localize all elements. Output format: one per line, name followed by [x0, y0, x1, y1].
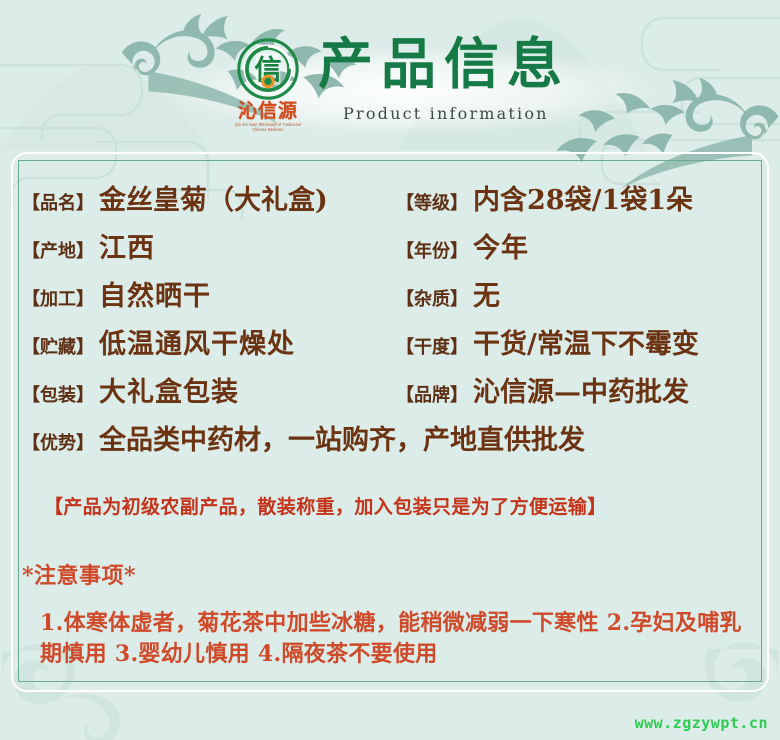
spec-value: 江西 — [99, 226, 155, 265]
spec-label: 【年份】 — [396, 237, 468, 263]
logo-brand-cn: 沁信源 — [228, 102, 308, 121]
spec-label: 【干度】 — [396, 333, 468, 359]
table-row: 【贮藏】 低温通风干燥处 【干度】 干货/常温下不霉变 — [22, 322, 762, 370]
table-row: 【品名】 金丝皇菊（大礼盒) 【等级】 内含28袋/1袋1朵 — [22, 178, 762, 226]
spec-table: 【品名】 金丝皇菊（大礼盒) 【等级】 内含28袋/1袋1朵 【产地】 江西 【… — [22, 178, 762, 474]
spec-cell-grade: 【等级】 内含28袋/1袋1朵 — [396, 178, 693, 217]
caution-body: 1.体寒体虚者，菊花茶中加些冰糖，能稍微减弱一下寒性 2.孕妇及哺乳期慎用 3.… — [40, 608, 746, 670]
spec-value: 自然晒干 — [99, 274, 211, 313]
spec-value: 沁信源—中药批发 — [473, 370, 689, 409]
spec-cell-processing: 【加工】 自然晒干 — [22, 274, 396, 313]
page-subtitle: Product information — [343, 104, 549, 123]
spec-cell-advantage: 【优势】 全品类中药材，一站购齐，产地直供批发 — [22, 418, 585, 457]
spec-cell-origin: 【产地】 江西 — [22, 226, 396, 265]
spec-value: 无 — [473, 274, 501, 313]
page-header: 信 沁信源 Qin Xin Yuan Wholesale of Traditio… — [0, 0, 780, 148]
spec-cell-brand: 【品牌】 沁信源—中药批发 — [396, 370, 689, 409]
spec-cell-packaging: 【包装】 大礼盒包装 — [22, 370, 396, 409]
product-notice: 【产品为初级农副产品，散装称重，加入包装只是为了方便运输】 — [44, 492, 607, 519]
spec-label: 【杂质】 — [396, 285, 468, 311]
logo-emblem-icon: 信 — [237, 38, 299, 100]
logo-brand-en: Qin Xin Yuan Wholesale of Traditional Ch… — [228, 122, 308, 132]
spec-value: 干货/常温下不霉变 — [473, 322, 699, 361]
table-row: 【产地】 江西 【年份】 今年 — [22, 226, 762, 274]
spec-label: 【优势】 — [22, 429, 94, 455]
spec-value: 今年 — [473, 226, 529, 265]
spec-label: 【包装】 — [22, 381, 94, 407]
spec-label: 【贮藏】 — [22, 333, 94, 359]
caution-title: *注意事项* — [22, 558, 136, 590]
spec-label: 【产地】 — [22, 237, 94, 263]
spec-label: 【等级】 — [396, 189, 468, 215]
spec-label: 【品牌】 — [396, 381, 468, 407]
site-watermark: www.zgzywpt.cn — [635, 714, 768, 732]
spec-value: 全品类中药材，一站购齐，产地直供批发 — [99, 418, 585, 457]
spec-label: 【加工】 — [22, 285, 94, 311]
product-info-page: 信 沁信源 Qin Xin Yuan Wholesale of Traditio… — [0, 0, 780, 740]
spec-value: 金丝皇菊（大礼盒) — [99, 178, 328, 217]
table-row: 【包装】 大礼盒包装 【品牌】 沁信源—中药批发 — [22, 370, 762, 418]
spec-cell-name: 【品名】 金丝皇菊（大礼盒) — [22, 178, 396, 217]
spec-cell-dryness: 【干度】 干货/常温下不霉变 — [396, 322, 699, 361]
spec-cell-storage: 【贮藏】 低温通风干燥处 — [22, 322, 396, 361]
spec-label: 【品名】 — [22, 189, 94, 215]
brand-logo: 信 沁信源 Qin Xin Yuan Wholesale of Traditio… — [228, 38, 308, 138]
spec-value: 内含28袋/1袋1朵 — [473, 178, 693, 217]
table-row-advantage: 【优势】 全品类中药材，一站购齐，产地直供批发 — [22, 418, 762, 474]
spec-value: 大礼盒包装 — [99, 370, 239, 409]
table-row: 【加工】 自然晒干 【杂质】 无 — [22, 274, 762, 322]
spec-cell-impurity: 【杂质】 无 — [396, 274, 501, 313]
spec-cell-year: 【年份】 今年 — [396, 226, 529, 265]
page-title: 产品信息 — [318, 36, 570, 91]
spec-value: 低温通风干燥处 — [99, 322, 295, 361]
